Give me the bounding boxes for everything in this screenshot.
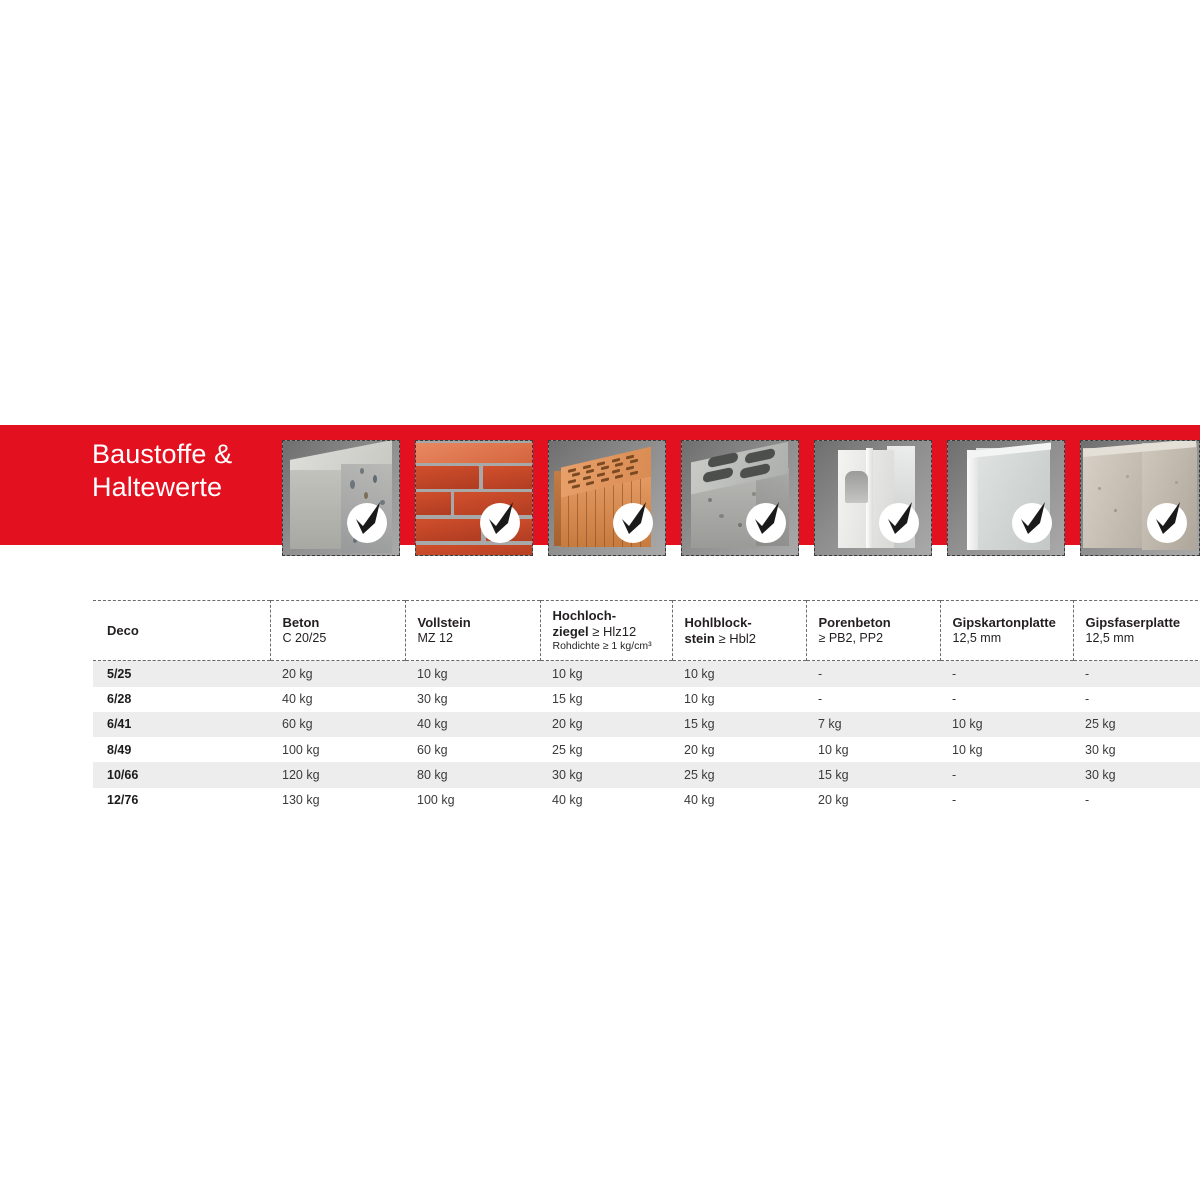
col-header-deco: Deco — [93, 601, 270, 661]
col-header-vollstein: Vollstein MZ 12 — [405, 601, 540, 661]
cell-hochlochziegel: 30 kg — [540, 762, 672, 787]
table-row: 6/28 40 kg 30 kg 15 kg 10 kg - - - — [93, 687, 1200, 712]
cell-gipsfaserplatte: - — [1073, 661, 1200, 687]
check-icon — [347, 503, 387, 543]
cell-deco: 12/76 — [93, 788, 270, 813]
cell-beton: 120 kg — [270, 762, 405, 787]
check-icon — [1012, 503, 1052, 543]
cell-hohlblockstein: 20 kg — [672, 737, 806, 762]
col-header-gipsfaserplatte: Gipsfaserplatte 12,5 mm — [1073, 601, 1200, 661]
cell-gipsfaserplatte: - — [1073, 687, 1200, 712]
thumbnail-hochlochziegel[interactable] — [548, 440, 666, 556]
table-row: 5/25 20 kg 10 kg 10 kg 10 kg - - - — [93, 661, 1200, 687]
check-icon — [1147, 503, 1187, 543]
cell-gipsfaserplatte: 30 kg — [1073, 737, 1200, 762]
check-icon — [613, 503, 653, 543]
table-row: 12/76 130 kg 100 kg 40 kg 40 kg 20 kg - … — [93, 788, 1200, 813]
table-header-row: Deco Beton C 20/25 Vollstein MZ 12 Hochl… — [93, 601, 1200, 661]
cell-hochlochziegel: 25 kg — [540, 737, 672, 762]
cell-gipsfaserplatte: - — [1073, 788, 1200, 813]
cell-porenbeton: 7 kg — [806, 712, 940, 737]
thumbnail-vollstein[interactable] — [415, 440, 533, 556]
banner-title: Baustoffe & Haltewerte — [92, 438, 262, 504]
table-row: 10/66 120 kg 80 kg 30 kg 25 kg 15 kg - 3… — [93, 762, 1200, 787]
cell-deco: 8/49 — [93, 737, 270, 762]
table-body: 5/25 20 kg 10 kg 10 kg 10 kg - - - 6/28 … — [93, 661, 1200, 813]
cell-vollstein: 60 kg — [405, 737, 540, 762]
cell-beton: 130 kg — [270, 788, 405, 813]
thumbnail-beton[interactable] — [282, 440, 400, 556]
cell-hohlblockstein: 10 kg — [672, 687, 806, 712]
thumbnail-gipskartonplatte[interactable] — [947, 440, 1065, 556]
cell-beton: 20 kg — [270, 661, 405, 687]
cell-deco: 5/25 — [93, 661, 270, 687]
cell-gipskartonplatte: 10 kg — [940, 737, 1073, 762]
col-header-beton: Beton C 20/25 — [270, 601, 405, 661]
cell-vollstein: 30 kg — [405, 687, 540, 712]
cell-gipskartonplatte: - — [940, 788, 1073, 813]
cell-gipskartonplatte: 10 kg — [940, 712, 1073, 737]
cell-deco: 6/28 — [93, 687, 270, 712]
cell-hohlblockstein: 15 kg — [672, 712, 806, 737]
cell-beton: 60 kg — [270, 712, 405, 737]
cell-hohlblockstein: 40 kg — [672, 788, 806, 813]
check-icon — [746, 503, 786, 543]
cell-beton: 40 kg — [270, 687, 405, 712]
cell-vollstein: 80 kg — [405, 762, 540, 787]
cell-vollstein: 10 kg — [405, 661, 540, 687]
cell-vollstein: 40 kg — [405, 712, 540, 737]
cell-porenbeton: 15 kg — [806, 762, 940, 787]
cell-hochlochziegel: 20 kg — [540, 712, 672, 737]
check-icon — [480, 503, 520, 543]
cell-deco: 10/66 — [93, 762, 270, 787]
cell-porenbeton: 20 kg — [806, 788, 940, 813]
cell-gipsfaserplatte: 25 kg — [1073, 712, 1200, 737]
cell-beton: 100 kg — [270, 737, 405, 762]
cell-hochlochziegel: 10 kg — [540, 661, 672, 687]
col-header-hohlblockstein: Hohlblock- stein ≥ Hbl2 — [672, 601, 806, 661]
cell-hochlochziegel: 40 kg — [540, 788, 672, 813]
cell-porenbeton: 10 kg — [806, 737, 940, 762]
cell-vollstein: 100 kg — [405, 788, 540, 813]
cell-porenbeton: - — [806, 687, 940, 712]
thumbnail-gipsfaserplatte[interactable] — [1080, 440, 1200, 556]
cell-gipskartonplatte: - — [940, 661, 1073, 687]
check-icon — [879, 503, 919, 543]
haltewerte-table: Deco Beton C 20/25 Vollstein MZ 12 Hochl… — [93, 600, 1200, 813]
cell-deco: 6/41 — [93, 712, 270, 737]
cell-porenbeton: - — [806, 661, 940, 687]
col-header-gipskartonplatte: Gipskartonplatte 12,5 mm — [940, 601, 1073, 661]
cell-gipskartonplatte: - — [940, 687, 1073, 712]
cell-gipsfaserplatte: 30 kg — [1073, 762, 1200, 787]
cell-hohlblockstein: 10 kg — [672, 661, 806, 687]
cell-hochlochziegel: 15 kg — [540, 687, 672, 712]
cell-hohlblockstein: 25 kg — [672, 762, 806, 787]
table-row: 6/41 60 kg 40 kg 20 kg 15 kg 7 kg 10 kg … — [93, 712, 1200, 737]
thumbnail-hohlblockstein[interactable] — [681, 440, 799, 556]
table-row: 8/49 100 kg 60 kg 25 kg 20 kg 10 kg 10 k… — [93, 737, 1200, 762]
col-header-porenbeton: Porenbeton ≥ PB2, PP2 — [806, 601, 940, 661]
table-head: Deco Beton C 20/25 Vollstein MZ 12 Hochl… — [93, 601, 1200, 661]
thumbnail-porenbeton[interactable] — [814, 440, 932, 556]
cell-gipskartonplatte: - — [940, 762, 1073, 787]
product-thumbnail-strip — [282, 440, 1200, 556]
haltewerte-table-wrapper: Deco Beton C 20/25 Vollstein MZ 12 Hochl… — [93, 600, 1200, 813]
col-header-hochlochziegel: Hochloch- ziegel ≥ Hlz12 Rohdichte ≥ 1 k… — [540, 601, 672, 661]
